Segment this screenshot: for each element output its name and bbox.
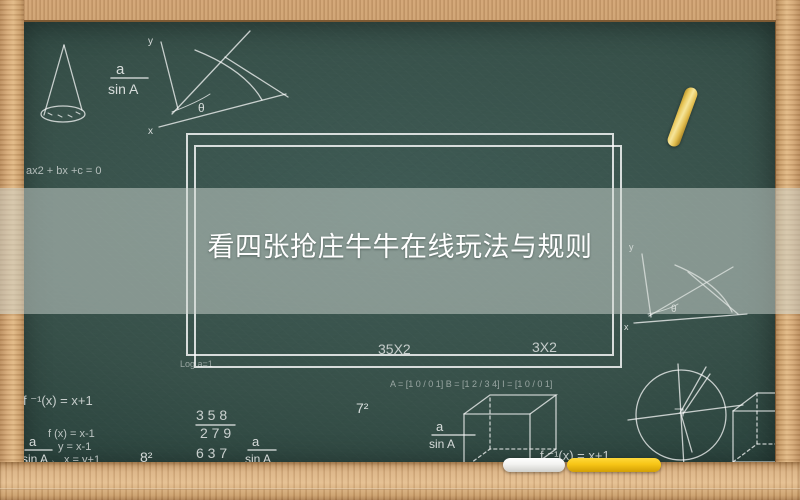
cone-base-ellipse <box>41 106 85 122</box>
white-chalk-stick-tray <box>503 458 565 472</box>
chalk-7-squared: 7² <box>356 400 369 416</box>
wooden-frame-bottom-ledge <box>0 462 800 500</box>
cone-right-edge <box>64 45 82 110</box>
chalk-col-row1: 3 5 8 <box>196 407 227 423</box>
chalk-axis-y-1: y <box>148 36 153 47</box>
arc-1 <box>195 50 262 100</box>
yellow-chalk-stick-tray <box>567 458 661 472</box>
chalk-y-eq: y = x-1 <box>58 441 91 453</box>
cube2-front <box>733 411 775 462</box>
ray-1 <box>172 31 250 114</box>
chalk-theta-1: θ <box>198 101 205 115</box>
chalk-fx: f (x) = x-1 <box>48 428 95 440</box>
chalk-a-numerator: a <box>116 61 125 78</box>
chalk-a-num-4: a <box>436 419 444 434</box>
chalk-a-num-3: a <box>252 434 260 449</box>
screenshot-root: a sin A ax2 + bx +c = 0 y x θ y x θ 35X2… <box>0 0 800 500</box>
chalk-a-num-2: a <box>29 434 37 449</box>
chalk-axis-x-1: x <box>148 126 153 137</box>
circle-radius-a <box>680 367 706 413</box>
chalk-quadratic: ax2 + bx +c = 0 <box>26 165 102 177</box>
chalk-sina-denominator: sin A <box>108 81 139 97</box>
chalk-inverse-fn: f ⁻¹(x) = x+1 <box>23 393 93 408</box>
chalk-matrices: A = [1 0 / 0 1] B = [1 2 / 3 4] I = [1 0… <box>390 379 552 389</box>
axis-y-1 <box>161 42 178 109</box>
axis-x-1 <box>159 94 286 127</box>
ledge-highlight-line <box>0 488 800 490</box>
cube2-top <box>733 393 775 411</box>
cube2-hidden-bottom <box>733 444 775 462</box>
page-title: 看四张抢庄牛牛在线玩法与规则 <box>0 228 800 268</box>
chalk-theta-2: θ <box>671 304 677 315</box>
cube-top-face <box>464 395 556 414</box>
chalk-col-row3: 6 3 7 <box>196 445 227 461</box>
chalk-axis-x-2: x <box>624 322 629 332</box>
cone-base-ticks <box>48 112 80 117</box>
circle-radius-c <box>683 374 710 414</box>
chalk-col-row2: 2 7 9 <box>200 425 231 441</box>
cone-left-edge <box>44 45 64 115</box>
chalk-sina-4: sin A <box>429 437 455 451</box>
